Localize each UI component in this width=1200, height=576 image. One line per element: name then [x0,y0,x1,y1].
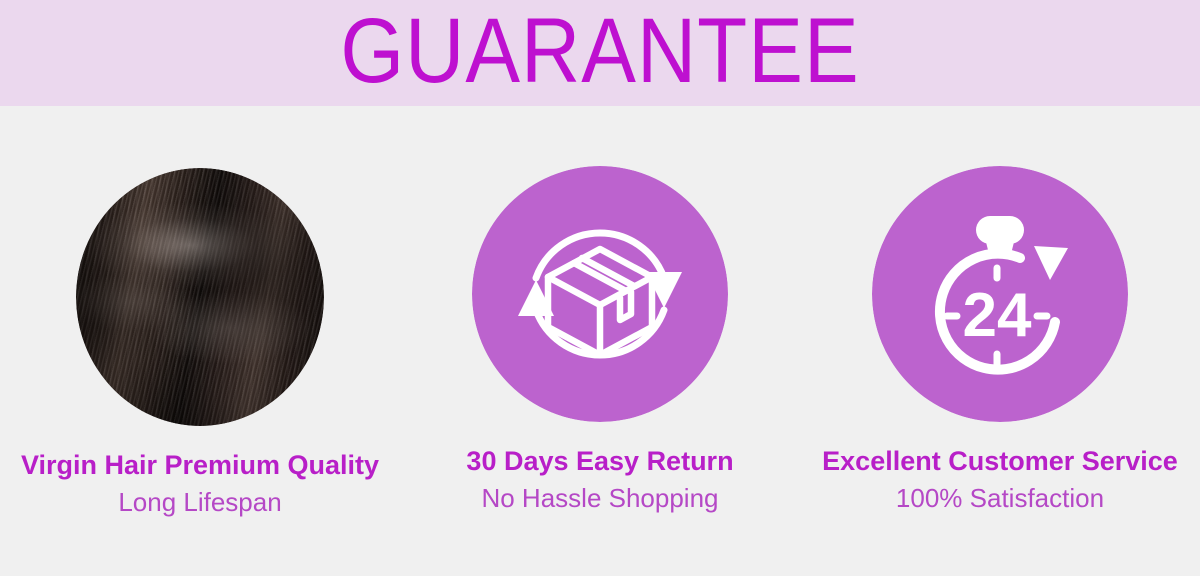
feature-title: Virgin Hair Premium Quality [0,448,400,482]
service-icon-circle: 24 [872,166,1128,422]
hair-photo-shading [76,168,324,426]
feature-item-return: 30 Days Easy Return No Hassle Shopping [400,106,800,576]
stopwatch-label: 24 [963,281,1032,350]
guarantee-banner: GUARANTEE Virgin Hair Premium Quality Lo… [0,0,1200,576]
feature-title: 30 Days Easy Return [400,444,800,478]
header-band: GUARANTEE [0,0,1200,106]
feature-caption: 30 Days Easy Return No Hassle Shopping [400,444,800,515]
return-icon-circle [472,166,728,422]
stopwatch-arrow-head-icon [1034,246,1068,280]
feature-caption: Excellent Customer Service 100% Satisfac… [800,444,1200,515]
stopwatch-crown-icon [976,216,1024,244]
feature-list: Virgin Hair Premium Quality Long Lifespa… [0,106,1200,576]
feature-subtitle: No Hassle Shopping [400,481,800,515]
return-box-icon [500,194,700,394]
page-title: GUARANTEE [340,6,859,98]
feature-title: Excellent Customer Service [800,444,1200,478]
feature-subtitle: 100% Satisfaction [800,481,1200,515]
icon-circle-background [472,166,728,422]
feature-item-service: 24 Excellent Customer Service 100% Satis… [800,106,1200,576]
feature-item-quality: Virgin Hair Premium Quality Long Lifespa… [0,106,400,576]
hair-photo [76,168,324,426]
icon-circle-background: 24 [872,166,1128,422]
feature-subtitle: Long Lifespan [0,485,400,519]
package-box-icon [548,249,652,355]
feature-caption: Virgin Hair Premium Quality Long Lifespa… [0,448,400,519]
stopwatch-24-icon: 24 [900,194,1100,394]
